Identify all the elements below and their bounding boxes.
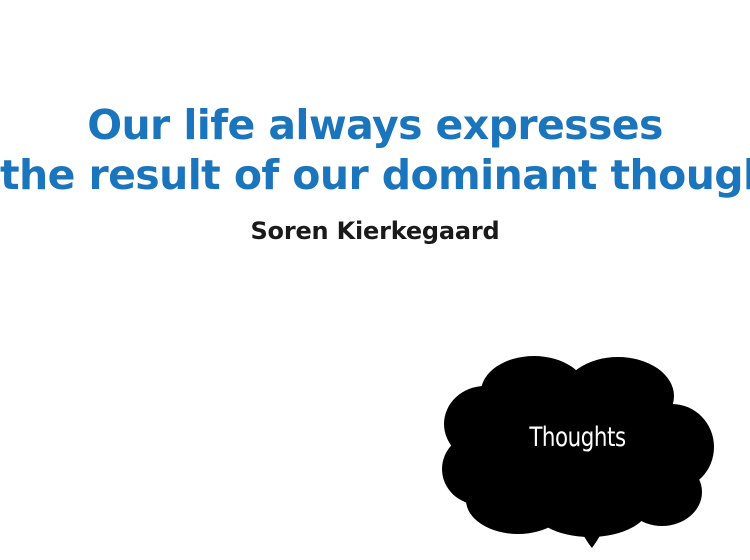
slide-canvas: Our life always expresses the result of … xyxy=(0,0,750,560)
thought-bubble: Thoughts xyxy=(440,352,715,557)
quote-line-1: Our life always expresses xyxy=(0,100,750,150)
quote-block: Our life always expresses the result of … xyxy=(0,100,750,200)
thought-bubble-label: Thoughts xyxy=(457,422,699,454)
quote-attribution: Soren Kierkegaard xyxy=(0,216,750,246)
thought-bubble-cloud-icon xyxy=(440,352,715,557)
quote-line-2: the result of our dominant thoughts. xyxy=(0,150,750,200)
